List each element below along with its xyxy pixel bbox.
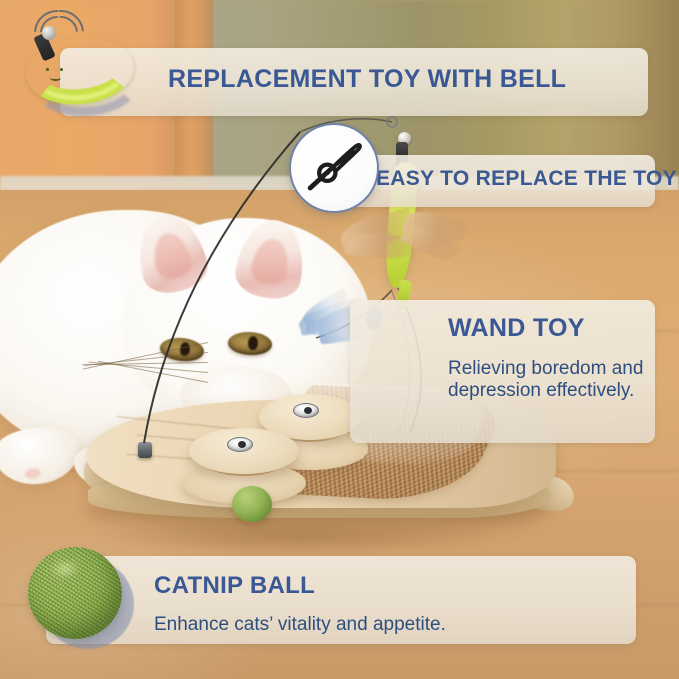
callout-wand-toy[interactable]: WAND TOY Relieving boredom and depressio… <box>350 300 655 443</box>
clip-clasp-icon <box>289 123 379 213</box>
clip-clasp-glyph <box>291 125 377 211</box>
cat-paw-front <box>0 424 83 489</box>
callout-title-easy-replace: EASY TO REPLACE THE TOY <box>376 167 677 191</box>
hanging-wand-toy <box>378 118 438 308</box>
infographic-canvas: REPLACEMENT TOY WITH BELL EASY TO REPLAC… <box>0 0 679 679</box>
wand-spring-anchor <box>138 442 152 458</box>
callout-title-replacement: REPLACEMENT TOY WITH BELL <box>168 65 566 94</box>
cat-pupil <box>248 336 259 351</box>
callout-title-catnip: CATNIP BALL <box>154 572 315 600</box>
catnip-ball-highlight <box>50 559 80 579</box>
cat-whiskers <box>78 336 208 406</box>
callout-replacement-toy[interactable]: REPLACEMENT TOY WITH BELL <box>60 48 648 116</box>
turntable-disc <box>189 428 298 474</box>
callout-title-wand: WAND TOY <box>448 314 585 343</box>
cat-ear-inner <box>149 229 195 282</box>
turntable-eye-icon <box>293 403 319 418</box>
cat-toe-bean <box>25 468 42 480</box>
banana-bell-toy-icon <box>18 28 146 120</box>
banana-bell-icon <box>42 26 56 40</box>
turntable-eye-icon <box>227 437 253 452</box>
banana-face <box>44 68 70 82</box>
callout-easy-replace[interactable]: EASY TO REPLACE THE TOY <box>350 155 655 207</box>
catnip-ball-sphere <box>28 547 122 639</box>
callout-desc-catnip: Enhance cats’ vitality and appetite. <box>154 614 446 636</box>
catnip-ball-on-board <box>232 486 272 522</box>
cat-ear-inner <box>249 236 292 287</box>
callout-desc-wand: Relieving boredom and depression effecti… <box>448 358 648 403</box>
catnip-ball-icon <box>26 545 136 651</box>
